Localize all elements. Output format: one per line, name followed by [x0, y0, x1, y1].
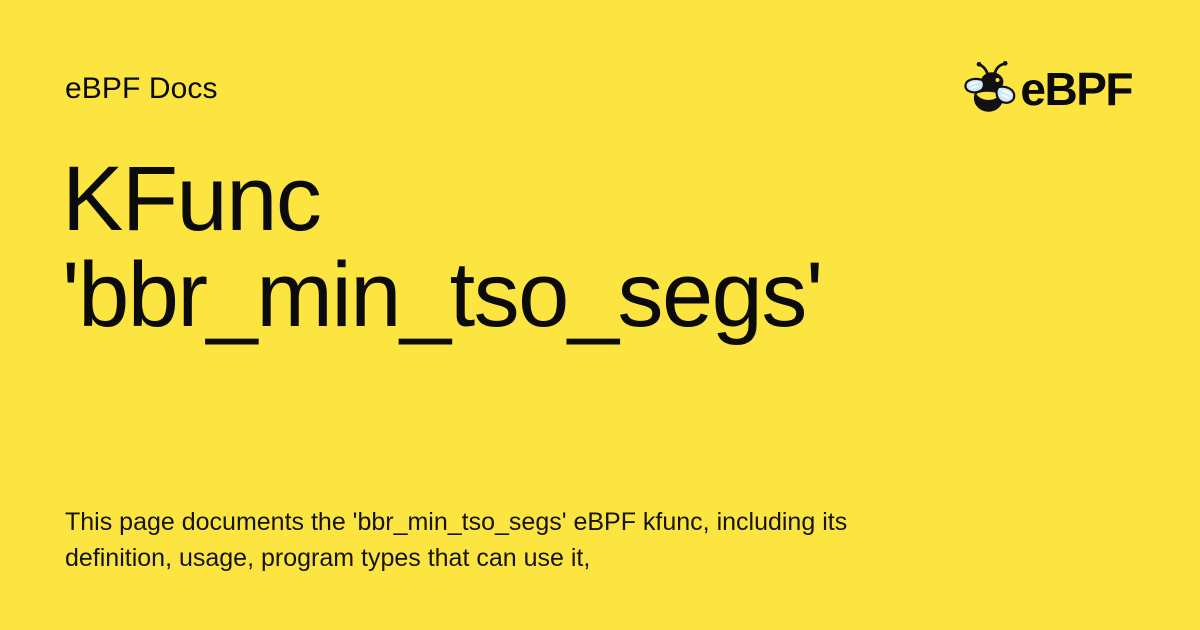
ebpf-wordmark: eBPF [1020, 66, 1132, 112]
social-preview-card: eBPF Docs [0, 0, 1200, 630]
ebpf-bee-logo-icon [964, 61, 1022, 117]
page-title: KFunc 'bbr_min_tso_segs' [62, 152, 1082, 343]
ebpf-logo: eBPF [964, 58, 1132, 120]
header: eBPF Docs [65, 58, 1132, 120]
site-name: eBPF Docs [65, 74, 218, 104]
page-description: This page documents the 'bbr_min_tso_seg… [65, 505, 895, 576]
